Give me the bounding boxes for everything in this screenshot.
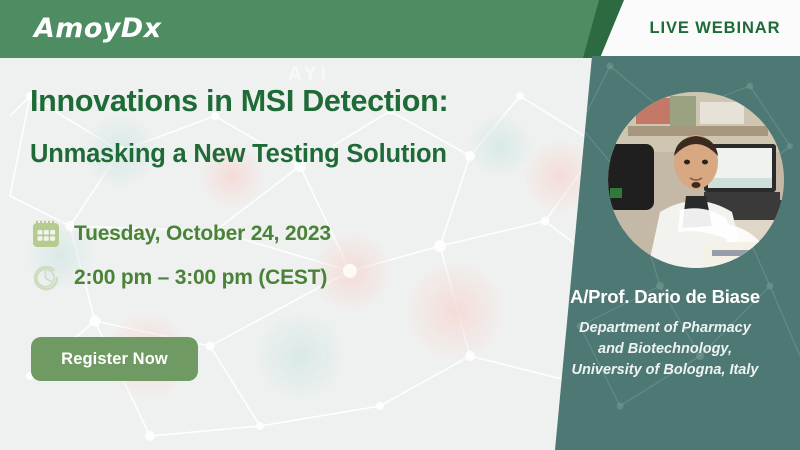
avatar [608,92,784,268]
register-now-button[interactable]: Register Now [31,337,198,381]
event-date-row: Tuesday, October 24, 2023 [30,212,331,256]
clock-icon [30,258,74,298]
live-webinar-badge: LIVE WEBINAR [640,19,790,38]
event-time-text: 2:00 pm – 3:00 pm (CEST) [74,266,327,290]
webinar-banner: AmoyDx LIVE WEBINAR AYI Innovations in M… [0,0,800,450]
page-subtitle: Unmasking a New Testing Solution [30,139,530,170]
watermark-text: AYI [288,64,330,86]
speaker-portrait [608,92,784,268]
affiliation-line-1: Department of Pharmacy [540,318,790,339]
event-date-text: Tuesday, October 24, 2023 [74,222,331,246]
calendar-icon [30,214,74,254]
affiliation-line-2: and Biotechnology, [540,339,790,360]
speaker-affiliation: Department of Pharmacy and Biotechnology… [540,318,790,381]
event-details: Tuesday, October 24, 2023 2:00 pm – 3:00… [30,212,331,300]
page-title: Innovations in MSI Detection: [30,84,530,119]
event-time-row: 2:00 pm – 3:00 pm (CEST) [30,256,331,300]
brand-logo: AmoyDx [34,13,161,44]
speaker-name: A/Prof. Dario de Biase [540,286,790,308]
affiliation-line-3: University of Bologna, Italy [540,360,790,381]
